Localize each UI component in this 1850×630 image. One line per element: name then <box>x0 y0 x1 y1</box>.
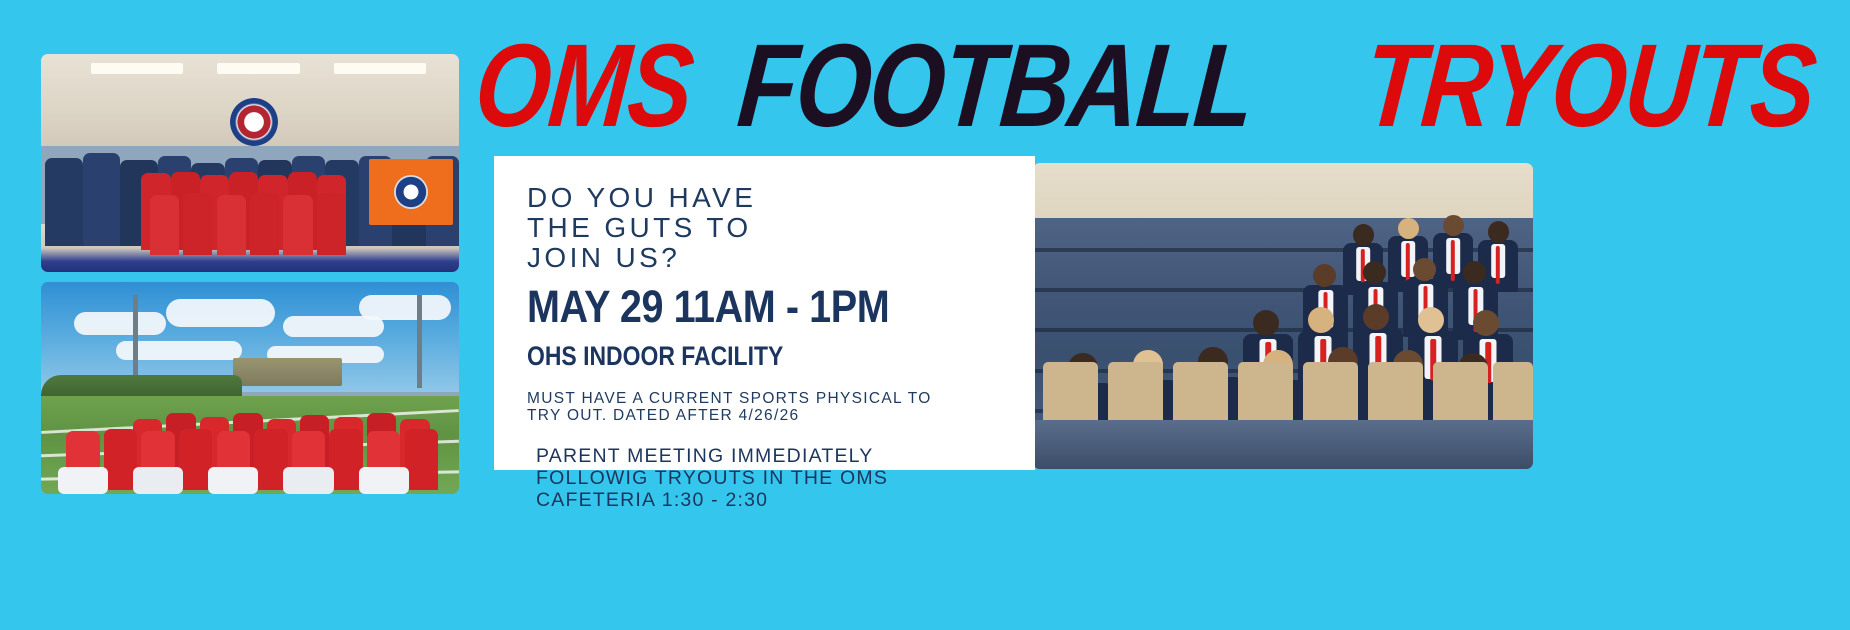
physical-requirement-note: MUST HAVE A CURRENT SPORTS PHYSICAL TO T… <box>527 390 1013 425</box>
stadium-stands <box>233 358 342 386</box>
info-panel-content: DO YOU HAVE THE GUTS TO JOIN US? MAY 29 … <box>527 183 1013 511</box>
photo-content-bleachers <box>1033 163 1533 469</box>
closing-line-2: FOLLOWIG TRYOUTS IN THE OMS <box>536 467 1013 489</box>
page-title: OMS FOOTBALL TRYOUTS <box>476 26 1836 146</box>
flyer-canvas: OMS FOOTBALL TRYOUTS <box>0 0 1850 630</box>
team-awards-group-photo <box>41 54 459 272</box>
fineprint-line-2: TRY OUT. DATED AFTER 4/26/26 <box>527 407 1013 425</box>
question-line-2: THE GUTS TO <box>527 213 1013 243</box>
photo-content-awards <box>41 54 459 272</box>
khaki-pants-row <box>1033 362 1533 423</box>
bottom-bench <box>1033 420 1533 469</box>
event-date-time: MAY 29 11AM - 1PM <box>527 284 955 329</box>
headline-word-football: FOOTBALL <box>734 27 1258 145</box>
info-panel: DO YOU HAVE THE GUTS TO JOIN US? MAY 29 … <box>494 156 1035 470</box>
event-venue: OHS INDOOR FACILITY <box>527 343 940 370</box>
question-block: DO YOU HAVE THE GUTS TO JOIN US? <box>527 183 1013 274</box>
parent-meeting-note: PARENT MEETING IMMEDIATELY FOLLOWIG TRYO… <box>536 445 1013 512</box>
photo-content-field <box>41 282 459 494</box>
question-line-1: DO YOU HAVE <box>527 183 1013 213</box>
question-line-3: JOIN US? <box>527 243 1013 273</box>
football-team-field-photo <box>41 282 459 494</box>
ceiling-lights <box>41 63 459 85</box>
o-boys-banner <box>369 159 453 225</box>
closing-line-1: PARENT MEETING IMMEDIATELY <box>536 445 1013 467</box>
headline-word-tryouts: TRYOUTS <box>1360 27 1819 145</box>
players-laying-row <box>41 456 459 494</box>
headline-word-oms: OMS <box>471 27 697 145</box>
team-bleachers-blazers-photo <box>1033 163 1533 469</box>
fineprint-line-1: MUST HAVE A CURRENT SPORTS PHYSICAL TO <box>527 390 1013 408</box>
closing-line-3: CAFETERIA 1:30 - 2:30 <box>536 489 1013 511</box>
